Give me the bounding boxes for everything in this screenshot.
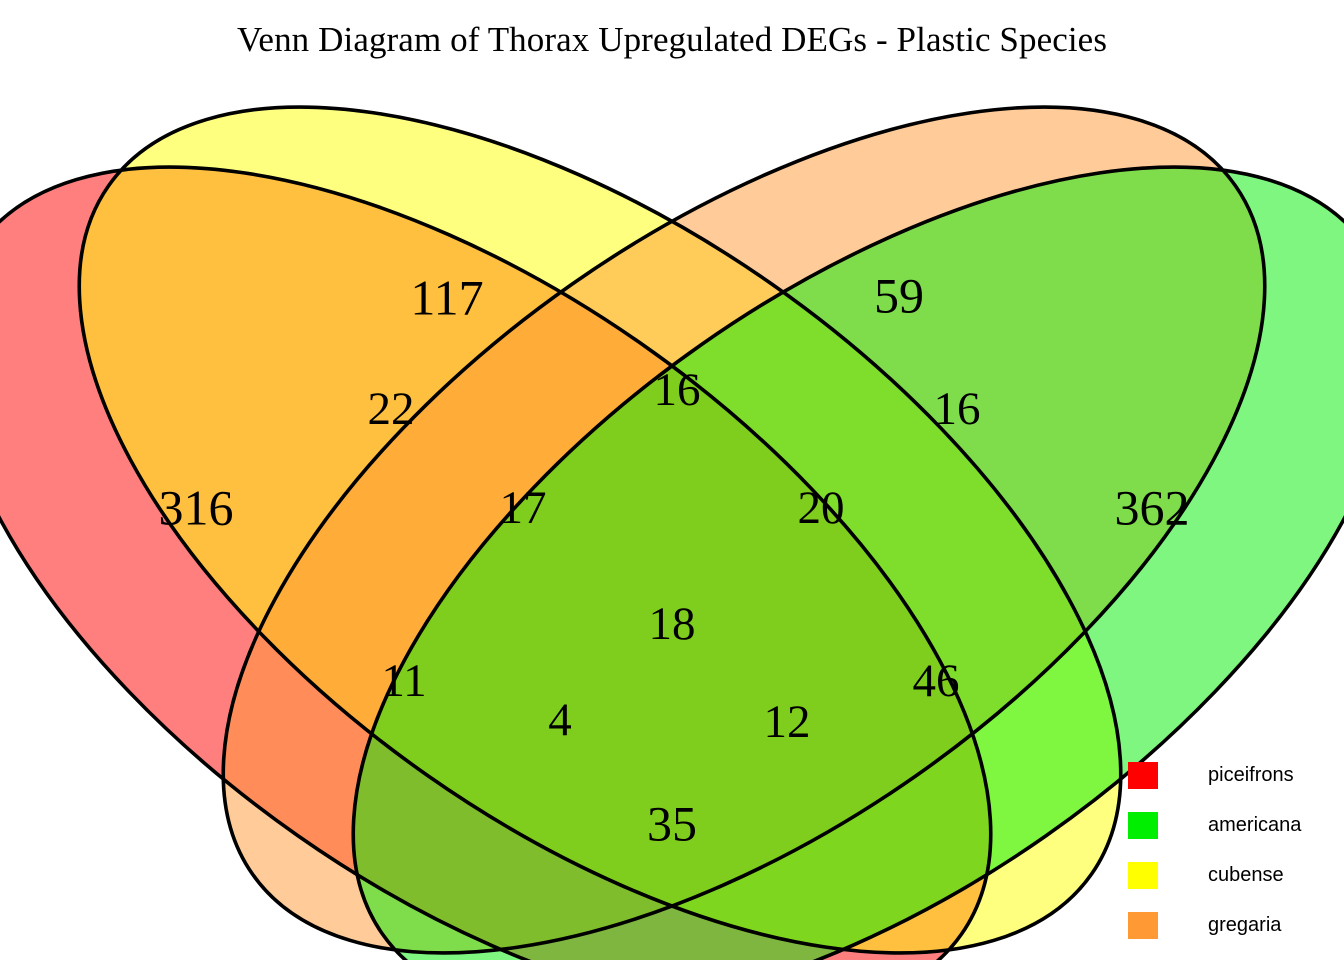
region-label-americana-only: 362 <box>1115 479 1190 535</box>
region-label-pic-greg: 11 <box>381 655 426 707</box>
legend-swatch-americana <box>1128 812 1158 839</box>
legend-label-gregaria: gregaria <box>1208 914 1281 937</box>
legend-item-americana[interactable]: americana <box>1128 800 1344 850</box>
region-label-pic-cub: 22 <box>368 383 415 435</box>
legend-item-cubense[interactable]: cubense <box>1128 850 1344 900</box>
legend-swatch-gregaria <box>1128 912 1158 939</box>
legend-swatch-piceifrons <box>1128 762 1158 789</box>
venn-diagram-page: Venn Diagram of Thorax Upregulated DEGs … <box>0 0 1344 960</box>
region-label-pic-cub-amer: 4 <box>548 694 572 746</box>
region-label-cub-greg-amer: 20 <box>798 482 845 534</box>
region-label-piceifrons-only: 316 <box>159 479 234 535</box>
region-label-gregaria-only: 59 <box>874 267 924 323</box>
legend: piceifrons americana cubense gregaria <box>1128 750 1344 950</box>
region-label-all-four: 18 <box>649 598 696 650</box>
legend-item-piceifrons[interactable]: piceifrons <box>1128 750 1344 800</box>
legend-label-piceifrons: piceifrons <box>1208 764 1294 787</box>
region-label-pic-greg-amer: 35 <box>647 795 697 851</box>
region-label-greg-amer-outer: 46 <box>913 655 960 707</box>
region-label-greg-amer: 16 <box>934 383 981 435</box>
region-label-cubense-only: 117 <box>410 269 483 325</box>
legend-label-cubense: cubense <box>1208 864 1284 887</box>
legend-label-americana: americana <box>1208 814 1301 837</box>
legend-item-gregaria[interactable]: gregaria <box>1128 900 1344 950</box>
region-label-pic-cub-greg: 17 <box>500 482 547 534</box>
region-label-cub-greg: 16 <box>654 364 701 416</box>
legend-swatch-cubense <box>1128 862 1158 889</box>
region-label-cub-amer: 12 <box>764 696 811 748</box>
